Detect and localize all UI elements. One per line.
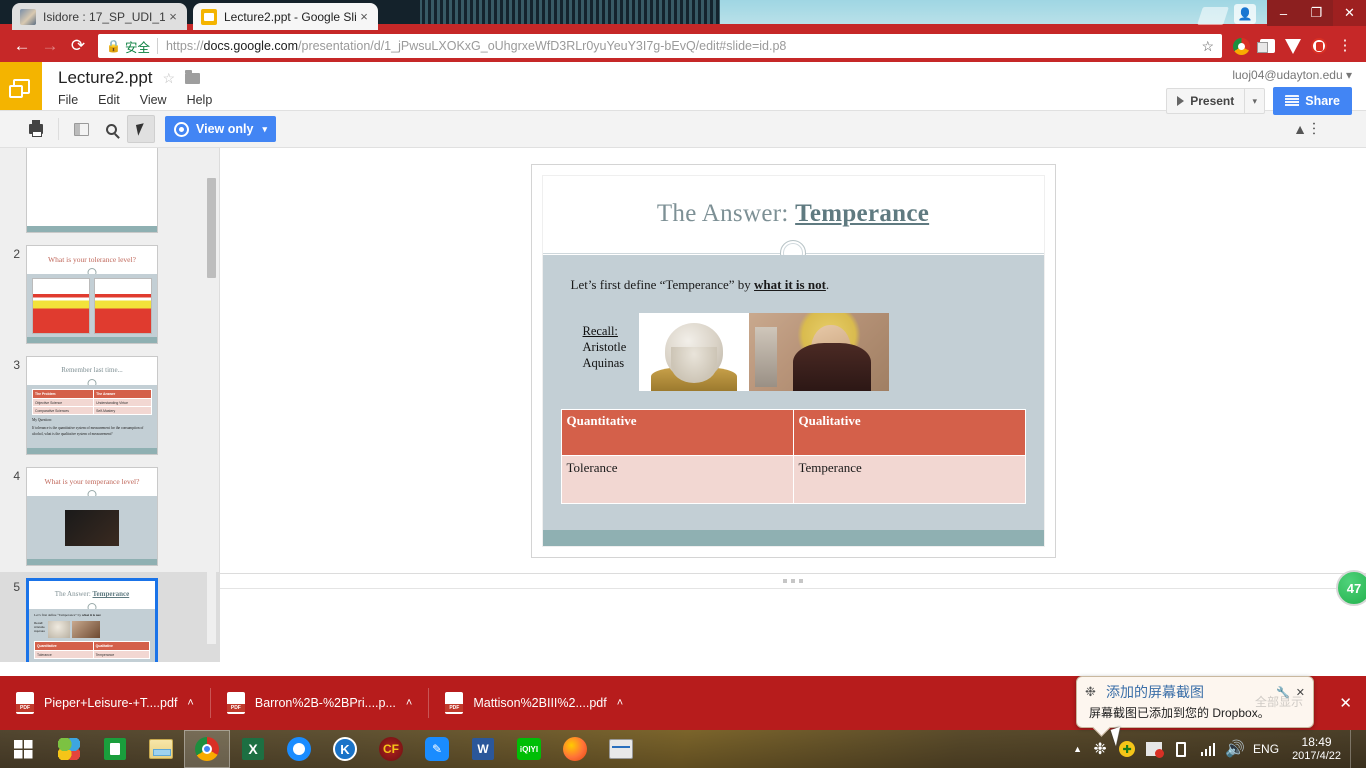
thumb-table: The Problem The Answer Objective Science… [32,389,152,415]
back-button[interactable]: ← [8,32,36,60]
chrome-extension-icon[interactable] [1228,33,1254,59]
address-divider [157,38,158,54]
chevron-up-icon[interactable]: ˄ [406,697,412,709]
show-desktop-button[interactable] [1350,730,1358,768]
omnibox-toolbar: ← → ⟳ 🔒 安全 https://docs.google.com/prese… [0,30,1366,62]
current-slide[interactable]: The Answer: Temperance Let’s first defin… [542,175,1045,547]
table-cell: Temperance [93,651,149,659]
dropbox-tray-icon[interactable]: ❉ [1091,740,1109,758]
download-filename: Barron%2B-%2BPri....p... [255,696,396,710]
chrome-window: Isidore : 17_SP_UDI_139_ × Lecture2.ppt … [0,0,1366,676]
close-icon[interactable]: × [356,9,372,24]
download-item[interactable]: Barron%2B-%2BPri....p... ˄ [211,676,428,730]
thumb-lead: Let’s first define “Temperance” by what … [34,613,150,618]
status-badge[interactable]: 47 [1336,570,1366,606]
wps-icon[interactable]: ✎ [414,730,460,768]
slides-logo-mark [13,79,30,94]
cursor-icon[interactable] [127,115,155,143]
table-header-cell: Qualitative [793,409,1025,455]
table-cell: Comparative Sciences [33,407,94,415]
slides-toolbar: View only ▾ ▲︙ [0,110,1366,148]
volume-icon[interactable]: 🔊 [1226,740,1244,758]
editor-body: 1 2 What is your tolerance level? [0,148,1366,662]
language-indicator[interactable]: ENG [1253,742,1279,756]
recall-label: Recall: [583,324,618,338]
eye-icon [174,122,189,137]
microsoft-excel-icon[interactable]: X [230,730,276,768]
chevron-down-icon: ▾ [1346,68,1352,82]
menu-help[interactable]: Help [187,93,213,107]
notification-title: 添加的屏幕截图 [1106,682,1204,702]
slide-canvas-area: The Answer: Temperance Let’s first defin… [220,148,1366,662]
system-monitor-icon[interactable] [598,730,644,768]
recall-row: Recall: Aristotle Aquinas [561,313,1026,391]
google-slides-app: Lecture2.ppt ☆ File Edit View Help luoj0… [0,62,1366,676]
tab-strip: Isidore : 17_SP_UDI_139_ × Lecture2.ppt … [0,0,1366,30]
windows-taskbar: X K CF ✎ W iQIYI ▲ [0,730,1366,768]
collapse-toolbar-icon[interactable]: ▲︙ [1293,119,1321,139]
iqiyi-icon[interactable]: iQIYI [506,730,552,768]
filmstrip-scrollbar-thumb[interactable] [207,178,216,278]
table-row: Quantitative Qualitative [561,409,1025,455]
lead-suffix: . [826,277,829,292]
url-path: /presentation/d/1_jPwsuLXOKxG_oUhgrxeWfD… [298,39,786,53]
slide-filmstrip[interactable]: 1 2 What is your tolerance level? [0,148,220,662]
chrome-menu-icon[interactable]: ⋮ [1332,33,1358,59]
slide-thumbnail-current[interactable]: The Answer: Temperance Let’s first defin… [26,578,158,662]
person-icon[interactable]: 👤 [1234,4,1256,24]
recall-text: Recall: Aristotle Aquinas [561,313,639,371]
tab-title: Isidore : 17_SP_UDI_139_ [43,10,165,24]
notification-ghost-text: 全部显示 [1255,693,1303,710]
microsoft-store-icon[interactable] [46,730,92,768]
slide-number: 2 [0,245,26,261]
recall-item: Aristotle [583,340,627,354]
clock-time: 18:49 [1292,736,1341,750]
download-item[interactable]: Pieper+Leisure-+T....pdf ˄ [0,676,210,730]
new-tab-button[interactable] [1197,7,1229,25]
menu-bar: File Edit View Help [58,93,1166,107]
table-row: Tolerance Temperance [561,455,1025,503]
list-item[interactable]: 1 [0,148,220,239]
tab-lecture2-slides[interactable]: Lecture2.ppt - Google Sli × [193,3,378,30]
slide-number: 4 [0,467,26,483]
speaker-notes-pane[interactable] [220,588,1366,662]
menu-file[interactable]: File [58,93,78,107]
window-controls: – ❐ ✕ [1267,0,1366,26]
table-cell: Understanding Virtue [94,399,152,407]
dropbox-notification[interactable]: ❉ 添加的屏幕截图 🔧 ✕ 屏幕截图已添加到您的 Dropbox。 全部显示 [1076,676,1314,728]
table-cell: Objective Science [33,399,94,407]
thumb-title: What is your temperance level? [45,477,140,486]
table-header-cell: The Answer [94,390,152,399]
mozilla-firefox-icon[interactable] [552,730,598,768]
slide-thumbnail[interactable]: What is your temperance level? [26,467,158,566]
list-item[interactable]: 4 What is your temperance level? [0,461,220,572]
close-icon[interactable]: × [165,9,181,24]
tray-overflow-icon[interactable]: ▲ [1073,744,1082,754]
qq-browser-icon[interactable] [276,730,322,768]
slide-title-emphasis: Temperance [795,200,929,227]
tab-isidore[interactable]: Isidore : 17_SP_UDI_139_ × [12,3,187,30]
dropbox-icon: ❉ [1085,685,1100,700]
microsoft-store-icon[interactable] [92,730,138,768]
star-icon[interactable]: ☆ [163,70,176,87]
slide-thumbnail[interactable]: Remember last time... The Problem The An… [26,356,158,455]
screen: Isidore : 17_SP_UDI_139_ × Lecture2.ppt … [0,0,1366,768]
bookmark-star-icon[interactable]: ☆ [1193,38,1214,55]
lead-prefix: Let’s first define “Temperance” by [571,277,755,292]
share-label: Share [1305,94,1340,108]
google-slides-logo[interactable] [0,62,42,110]
download-filename: Mattison%2BIII%2....pdf [473,696,606,710]
pdf-file-icon [227,692,245,714]
slide-title-prefix: The Answer: [657,200,795,227]
view-only-label: View only [196,122,253,136]
google-chrome-icon[interactable] [184,730,230,768]
menu-view[interactable]: View [140,93,167,107]
close-shelf-button[interactable]: ✕ [1339,694,1352,712]
isidore-favicon [20,9,36,25]
chevron-up-icon[interactable]: ˄ [617,697,623,709]
page-title[interactable]: Lecture2.ppt [58,68,153,88]
slides-header: Lecture2.ppt ☆ File Edit View Help luoj0… [0,62,1366,110]
list-item[interactable]: 2 What is your tolerance level? [0,239,220,350]
signal-icon[interactable] [1199,740,1217,758]
slide-lead-text: Let’s first define “Temperance” by what … [571,277,1026,293]
play-icon [1177,96,1184,106]
restore-button[interactable]: ❐ [1300,0,1333,26]
reload-button[interactable]: ⟳ [64,32,92,60]
menu-edit[interactable]: Edit [98,93,120,107]
table-cell: Tolerance [561,455,793,503]
title-block: Lecture2.ppt ☆ File Edit View Help [42,62,1166,110]
present-options-caret[interactable]: ▾ [1245,88,1265,114]
slide-thumbnail[interactable] [26,148,158,233]
table-header-cell: Qualitative [93,642,149,651]
table-cell: Self-Mastery [94,407,152,415]
recall-item: Aquinas [583,356,625,370]
windows-start-icon[interactable] [0,730,46,768]
google-slides-favicon [201,9,217,25]
url-scheme: https:// [166,39,204,53]
print-icon[interactable] [22,115,50,143]
table-header-cell: The Problem [33,390,94,399]
address-bar[interactable]: 🔒 安全 https://docs.google.com/presentatio… [98,34,1222,58]
thumb-notes-body: If tolerance is the quantitative system … [32,426,152,437]
minimize-button[interactable]: – [1267,0,1300,26]
view-only-button[interactable]: View only ▾ [165,116,276,142]
account-email-text: luoj04@udayton.edu [1232,68,1342,82]
zoom-icon[interactable] [97,115,125,143]
share-button[interactable]: Share [1273,87,1352,115]
toolbar-divider [58,118,59,140]
adblock-icon[interactable] [1306,33,1332,59]
list-item[interactable]: 3 Remember last time... The Problem [0,350,220,461]
arrange-icon[interactable] [67,115,95,143]
crossfire-icon[interactable]: CF [368,730,414,768]
thumb-notes-label: My Question: [32,418,152,423]
url-text: https://docs.google.com/presentation/d/1… [166,39,786,53]
clock-date: 2017/4/22 [1292,750,1341,763]
present-button[interactable]: Present [1166,88,1245,114]
lead-emphasis: what it is not [754,277,826,292]
aristotle-bust-photo [639,313,749,391]
account-email[interactable]: luoj04@udayton.edu ▾ [1232,68,1352,82]
tab-title: Lecture2.ppt - Google Sli [224,10,356,24]
shield-extension-icon[interactable] [1280,33,1306,59]
kingsoft-icon[interactable]: K [322,730,368,768]
slide-number: 3 [0,356,26,372]
clock[interactable]: 18:49 2017/4/22 [1288,736,1341,762]
battery-icon[interactable] [1172,740,1190,758]
table-cell: Tolerance [35,651,94,659]
pdf-file-icon [445,692,463,714]
forward-button[interactable]: → [36,32,64,60]
slide-footer-band [543,530,1044,546]
download-filename: Pieper+Leisure-+T....pdf [44,696,177,710]
window-switch-icon[interactable] [1254,33,1280,59]
share-lock-icon [1285,95,1299,107]
file-explorer-icon[interactable] [138,730,184,768]
canvas-viewport[interactable]: The Answer: Temperance Let’s first defin… [220,148,1366,573]
list-item[interactable]: 5 The Answer: Temperance Let’s first def… [0,572,220,662]
slide-number: 5 [0,578,26,594]
thumb-title: Remember last time... [61,366,123,374]
slide-thumbnail[interactable]: What is your tolerance level? [26,245,158,344]
slide-title: The Answer: Temperance [657,200,929,228]
slide-body: Let’s first define “Temperance” by what … [543,255,1044,530]
speaker-notes-handle[interactable] [220,574,1366,588]
comparison-table: Quantitative Qualitative Tolerance Tempe… [561,409,1026,504]
thumb-title: What is your tolerance level? [48,255,136,264]
present-label: Present [1190,94,1234,108]
close-window-button[interactable]: ✕ [1333,0,1366,26]
philosopher-images [639,313,889,391]
slide-number: 1 [0,148,26,150]
aquinas-fresco-photo [749,313,889,391]
chevron-down-icon: ▾ [262,124,267,135]
url-host: docs.google.com [204,39,299,53]
folder-icon[interactable] [185,73,200,84]
download-item[interactable]: Mattison%2BIII%2....pdf ˄ [429,676,639,730]
pdf-file-icon [16,692,34,714]
table-header-cell: Quantitative [561,409,793,455]
table-cell: Temperance [793,455,1025,503]
lock-icon: 🔒 [106,39,121,53]
thumb-title: The Answer: Temperance [55,590,129,598]
microsoft-word-icon[interactable]: W [460,730,506,768]
secure-label: 安全 [125,37,150,56]
header-actions: luoj04@udayton.edu ▾ Present ▾ Share [1166,62,1366,110]
network-error-icon[interactable] [1145,740,1163,758]
slide-frame[interactable]: The Answer: Temperance Let’s first defin… [531,164,1056,558]
table-header-cell: Quantitative [35,642,94,651]
chevron-up-icon[interactable]: ˄ [187,697,193,709]
